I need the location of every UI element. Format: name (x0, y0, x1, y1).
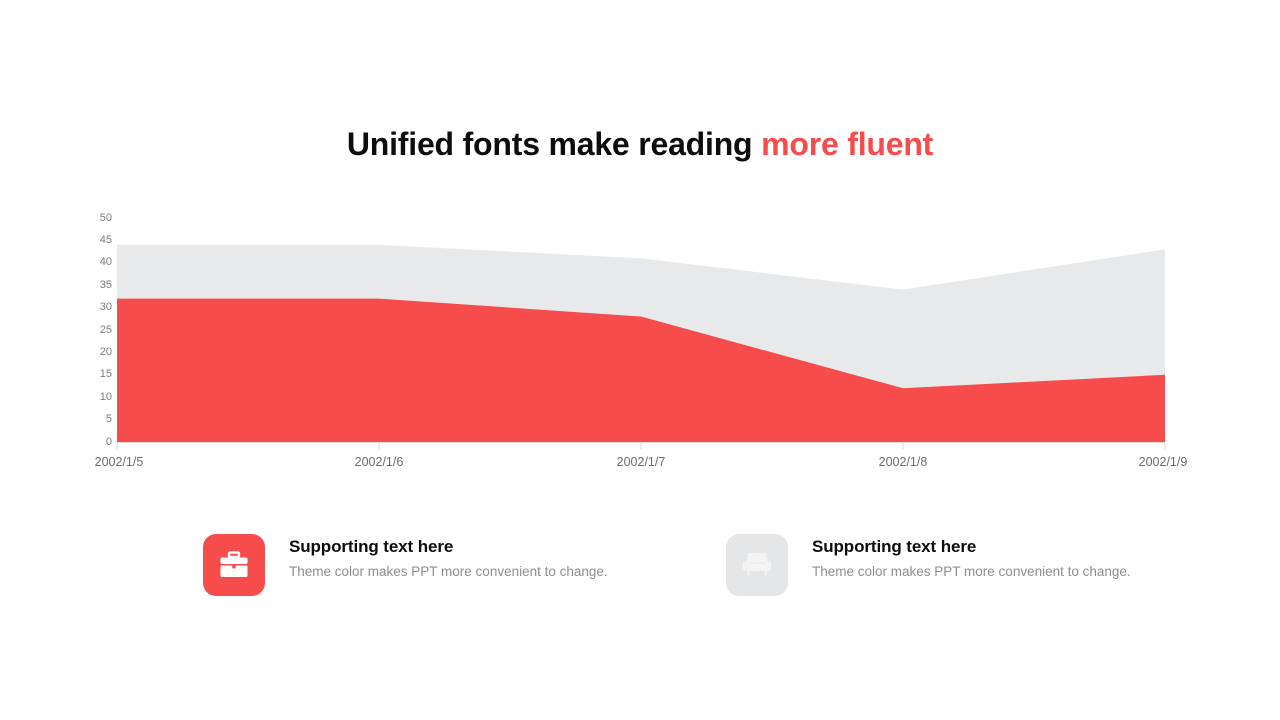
supporting-heading: Supporting text here (812, 536, 1142, 557)
supporting-heading: Supporting text here (289, 536, 619, 557)
page-title: Unified fonts make reading more fluent (0, 126, 1280, 163)
supporting-body: Theme color makes PPT more convenient to… (289, 563, 619, 582)
supporting-body: Theme color makes PPT more convenient to… (812, 563, 1142, 582)
slide-canvas: Unified fonts make reading more fluent 5… (0, 0, 1280, 720)
x-axis-tick-label: 2002/1/9 (1103, 455, 1223, 469)
x-axis-tick-label: 2002/1/8 (843, 455, 963, 469)
armchair-icon (726, 534, 788, 596)
supporting-item-right[interactable]: Supporting text here Theme color makes P… (726, 534, 1146, 624)
armchair-icon-glyph (742, 552, 772, 578)
chart-plot-area (78, 205, 1200, 467)
toolbox-icon (203, 534, 265, 596)
chart-series-areas (117, 245, 1165, 442)
x-axis-tick-label: 2002/1/5 (59, 455, 179, 469)
toolbox-icon-glyph (219, 551, 249, 579)
page-title-main: Unified fonts make reading (347, 126, 761, 162)
supporting-item-left[interactable]: Supporting text here Theme color makes P… (203, 534, 623, 624)
x-axis-tick-marks (117, 443, 1165, 449)
x-axis-tick-label: 2002/1/7 (581, 455, 701, 469)
area-chart: 50454035302520151050 2002/1/52002/1/6200… (78, 205, 1200, 467)
supporting-text-right: Supporting text here Theme color makes P… (812, 536, 1142, 582)
page-title-accent: more fluent (761, 126, 933, 162)
x-axis-tick-label: 2002/1/6 (319, 455, 439, 469)
supporting-text-left: Supporting text here Theme color makes P… (289, 536, 619, 582)
